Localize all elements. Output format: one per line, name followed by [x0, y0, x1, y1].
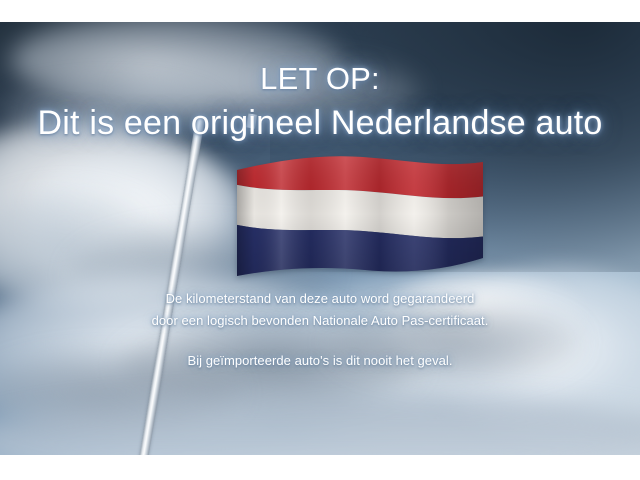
dutch-flag — [237, 148, 483, 280]
headline-main: Dit is een origineel Nederlandse auto — [0, 103, 640, 143]
notice-banner: LET OP: Dit is een origineel Nederlandse… — [0, 0, 640, 480]
body-text-block: De kilometerstand van deze auto word geg… — [0, 288, 640, 372]
body-line-1: De kilometerstand van deze auto word geg… — [0, 288, 640, 310]
body-line-3: Bij geïmporteerde auto's is dit nooit he… — [0, 350, 640, 372]
body-line-spacer — [0, 332, 640, 350]
body-line-2: door een logisch bevonden Nationale Auto… — [0, 310, 640, 332]
letterbox-bar-bottom — [0, 455, 640, 480]
headline-attention: LET OP: — [0, 61, 640, 97]
letterbox-bar-top — [0, 0, 640, 22]
